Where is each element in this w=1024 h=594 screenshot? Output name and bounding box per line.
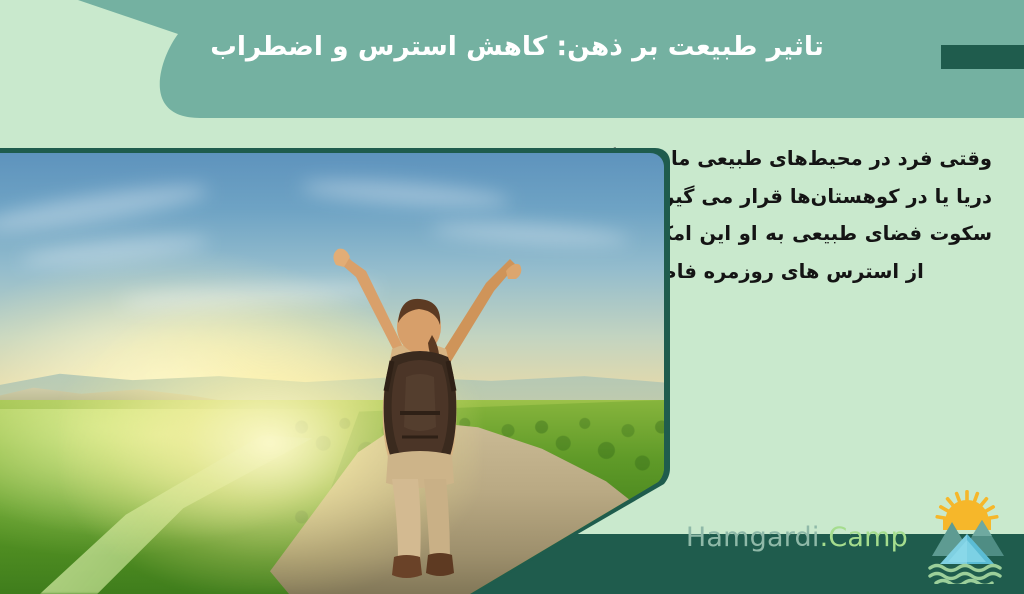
water-waves-icon [930,566,1000,585]
banner-root: تاثیر طبیعت بر ذهن: کاهش استرس و اضطراب … [0,0,1024,594]
photo-canvas [0,153,664,594]
brand-name-secondary: .Camp [820,522,908,553]
brand-name-primary: Hamgardi [686,522,820,553]
page-title: تاثیر طبیعت بر ذهن: کاهش استرس و اضطراب [0,30,1024,64]
brand-name: Hamgardi.Camp [686,524,908,551]
sun-mountain-tent-water-icon [924,488,1010,584]
hiker-figure [280,231,550,591]
hero-photo [0,148,700,594]
brand-logo[interactable]: Hamgardi.Camp [686,488,1010,586]
